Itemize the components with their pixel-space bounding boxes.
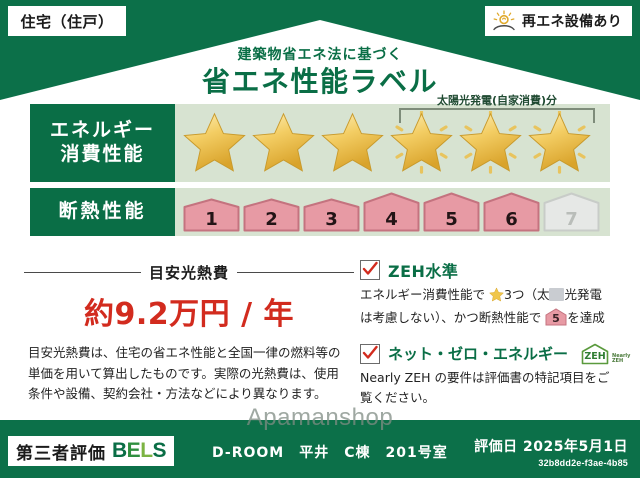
insulation-house-filled: 6 <box>483 192 540 232</box>
svg-text:2: 2 <box>265 209 278 230</box>
bels-letter-s: S <box>153 439 167 462</box>
performance-section: エネルギー 消費性能 太陽光発電(自家消費)分 断熱性能 1234567 <box>30 104 610 236</box>
bels-logo: 第三者評価 BELS <box>8 436 174 466</box>
house-type-label: 住宅（住戸） <box>20 11 113 32</box>
insulation-grade-scale: 1234567 <box>175 192 600 232</box>
zeh-section: ZEH水準 エネルギー消費性能で 3つ（太光発電は考慮しない）、かつ断熱性能で … <box>360 258 612 418</box>
svg-text:5: 5 <box>552 312 560 325</box>
utility-cost-label: 目安光熱費 <box>149 262 229 283</box>
energy-star-panel: 太陽光発電(自家消費)分 <box>175 104 610 182</box>
solar-portion-caption: 太陽光発電(自家消費)分 <box>399 92 595 108</box>
heading-rule-right <box>237 272 354 273</box>
zeh-body-text-1: エネルギー消費性能で <box>360 287 485 302</box>
svg-text:1: 1 <box>205 209 218 230</box>
utility-cost-amount: 約9.2万円 / 年 <box>24 289 354 333</box>
svg-text:7: 7 <box>565 209 578 230</box>
insulation-grade-panel: 1234567 <box>175 188 610 236</box>
svg-text:3: 3 <box>325 209 338 230</box>
checkbox-checked-icon <box>360 344 380 364</box>
zeh-logo-icon: ZEH Nearly ZEH <box>580 343 630 365</box>
insulation-house-filled: 4 <box>363 192 420 232</box>
insulation-performance-label: 断熱性能 <box>30 188 175 236</box>
bels-letter-l: L <box>140 439 152 462</box>
bels-letter-b: B <box>112 439 127 462</box>
checkbox-checked-icon <box>360 260 380 280</box>
star-icon <box>319 111 386 175</box>
insulation-grade-badge: 5 <box>545 308 567 332</box>
zeh-netzero-title: ネット・ゼロ・エネルギー <box>388 343 568 364</box>
zeh-netzero-body: Nearly ZEH の要件は評価書の特記項目をご覧ください。 <box>360 368 612 409</box>
insulation-label-text: 断熱性能 <box>58 200 146 224</box>
energy-label-root: 住宅（住戸） 再エネ設備あり 建築物省エネ法に基づく 省エネ性能ラベル <box>0 0 640 478</box>
insulation-house-filled: 1 <box>183 198 240 232</box>
energy-label-line2: 消費性能 <box>60 143 144 167</box>
bels-letter-e: E <box>127 439 141 462</box>
footer-bar: 第三者評価 BELS D-ROOM 平井 C棟 201号室 評価日 2025年5… <box>0 432 640 478</box>
zeh-netzero-item: ネット・ゼロ・エネルギー ZEH Nearly ZEH Nearly ZEH の… <box>360 343 612 409</box>
house-type-badge: 住宅（住戸） <box>8 6 126 36</box>
utility-cost-section: 目安光熱費 約9.2万円 / 年 目安光熱費は、住宅の省エネ性能と全国一律の燃料… <box>24 258 354 405</box>
svg-text:4: 4 <box>385 209 398 230</box>
zeh-body-text-4: を達成 <box>567 310 605 325</box>
insulation-house-filled: 5 <box>423 192 480 232</box>
svg-text:ZEH: ZEH <box>584 351 605 362</box>
energy-performance-row: エネルギー 消費性能 太陽光発電(自家消費)分 <box>30 104 610 182</box>
utility-cost-heading: 目安光熱費 <box>24 262 354 283</box>
utility-cost-note: 目安光熱費は、住宅の省エネ性能と全国一律の燃料等の単価を用いて算出したものです。… <box>24 343 354 405</box>
bels-jp-label: 第三者評価 <box>16 439 106 464</box>
sun-icon <box>491 10 517 32</box>
zeh-logo-sub: Nearly ZEH <box>612 354 630 365</box>
zeh-standard-header: ZEH水準 <box>360 258 612 282</box>
solar-portion-bracket <box>399 108 595 123</box>
svg-text:5: 5 <box>445 209 458 230</box>
energy-label-line1: エネルギー <box>50 119 155 143</box>
insulation-house-filled: 3 <box>303 198 360 232</box>
zeh-logo-sub-line2: ZEH <box>612 359 630 364</box>
evaluation-info: 評価日 2025年5月1日 32b8dd2e-f3ae-4b85 <box>474 436 628 468</box>
zeh-body-text-2: 3つ（太 <box>504 287 549 302</box>
property-unit-name: D-ROOM 平井 C棟 201号室 <box>212 442 448 462</box>
renewable-label: 再エネ設備あり <box>522 11 622 31</box>
zeh-standard-title: ZEH水準 <box>388 258 458 282</box>
heading-rule-left <box>24 272 141 273</box>
zeh-standard-item: ZEH水準 エネルギー消費性能で 3つ（太光発電は考慮しない）、かつ断熱性能で … <box>360 258 612 333</box>
bels-en-label: BELS <box>112 439 166 463</box>
energy-performance-label: エネルギー 消費性能 <box>30 104 175 182</box>
insulation-house-filled: 2 <box>243 198 300 232</box>
svg-text:6: 6 <box>505 209 518 230</box>
redacted-char-icon <box>549 288 564 301</box>
insulation-performance-row: 断熱性能 1234567 <box>30 188 610 236</box>
evaluation-date: 評価日 2025年5月1日 <box>474 436 628 456</box>
insulation-house-empty: 7 <box>543 192 600 232</box>
zeh-netzero-header: ネット・ゼロ・エネルギー ZEH Nearly ZEH <box>360 343 612 365</box>
renewable-badge: 再エネ設備あり <box>485 6 632 36</box>
star-icon <box>181 111 248 175</box>
zeh-standard-body: エネルギー消費性能で 3つ（太光発電は考慮しない）、かつ断熱性能で 5 を達成 <box>360 285 612 333</box>
star-icon <box>489 287 504 308</box>
evaluation-id: 32b8dd2e-f3ae-4b85 <box>474 458 628 468</box>
section-divider <box>30 256 610 258</box>
star-icon <box>250 111 317 175</box>
